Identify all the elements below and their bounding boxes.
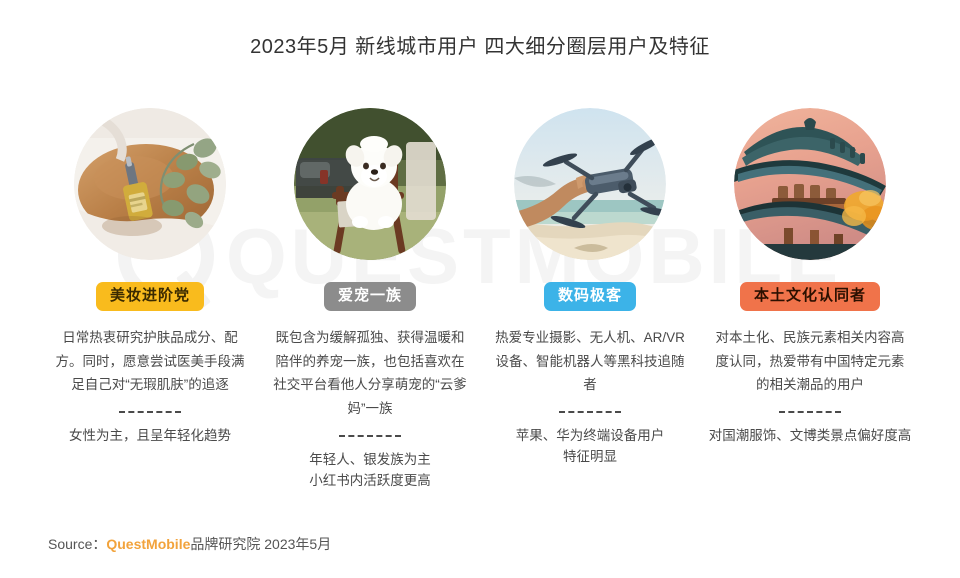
- white-dog-photo: [294, 108, 446, 260]
- chinese-temple-photo: [734, 108, 886, 260]
- segment-columns: 美妆进阶党 日常热衷研究护肤品成分、配方。同时，愿意尝试医美手段满足自己对“无瑕…: [40, 108, 920, 492]
- page-title: 2023年5月 新线城市用户 四大细分圈层用户及特征: [0, 30, 960, 59]
- segment-subdescription-3: 苹果、华为终端设备用户 特征明显: [488, 425, 692, 468]
- segment-subdescription-2: 年轻人、银发族为主 小红书内活跃度更高: [268, 449, 472, 492]
- segment-column-4: 本土文化认同者 对本土化、民族元素相关内容高度认同，热爱带有中国特定元素的相关潮…: [700, 108, 920, 492]
- segment-badge-1: 美妆进阶党: [96, 282, 204, 311]
- segment-badge-3: 数码极客: [544, 282, 636, 311]
- segment-divider-4: [779, 411, 841, 413]
- segment-column-1: 美妆进阶党 日常热衷研究护肤品成分、配方。同时，愿意尝试医美手段满足自己对“无瑕…: [40, 108, 260, 492]
- segment-description-3: 热爱专业摄影、无人机、AR/VR设备、智能机器人等黑科技追随者: [490, 326, 690, 397]
- source-prefix: Source：: [48, 536, 106, 552]
- segment-divider-2: [339, 435, 401, 437]
- segment-description-1: 日常热衷研究护肤品成分、配方。同时，愿意尝试医美手段满足自己对“无瑕肌肤”的追逐: [50, 326, 250, 397]
- segment-column-2: 爱宠一族 既包含为缓解孤独、获得温暖和陪伴的养宠一族，也包括喜欢在社交平台看他人…: [260, 108, 480, 492]
- segment-divider-3: [559, 411, 621, 413]
- segment-description-2: 既包含为缓解孤独、获得温暖和陪伴的养宠一族，也包括喜欢在社交平台看他人分享萌宠的…: [270, 326, 470, 421]
- segment-column-3: 数码极客 热爱专业摄影、无人机、AR/VR设备、智能机器人等黑科技追随者 苹果、…: [480, 108, 700, 492]
- segment-divider-1: [119, 411, 181, 413]
- segment-badge-4: 本土文化认同者: [740, 282, 880, 311]
- source-suffix: 品牌研究院 2023年5月: [190, 536, 331, 552]
- source-brand: QuestMobile: [106, 536, 190, 552]
- segment-subdescription-1: 女性为主，且呈年轻化趋势: [48, 425, 252, 447]
- source-line: Source：QuestMobile品牌研究院 2023年5月: [48, 534, 331, 554]
- segment-description-4: 对本土化、民族元素相关内容高度认同，热爱带有中国特定元素的相关潮品的用户: [710, 326, 910, 397]
- segment-subdescription-4: 对国潮服饰、文博类景点偏好度高: [708, 425, 912, 447]
- skincare-serum-photo: [74, 108, 226, 260]
- drone-photo: [514, 108, 666, 260]
- segment-badge-2: 爱宠一族: [324, 282, 416, 311]
